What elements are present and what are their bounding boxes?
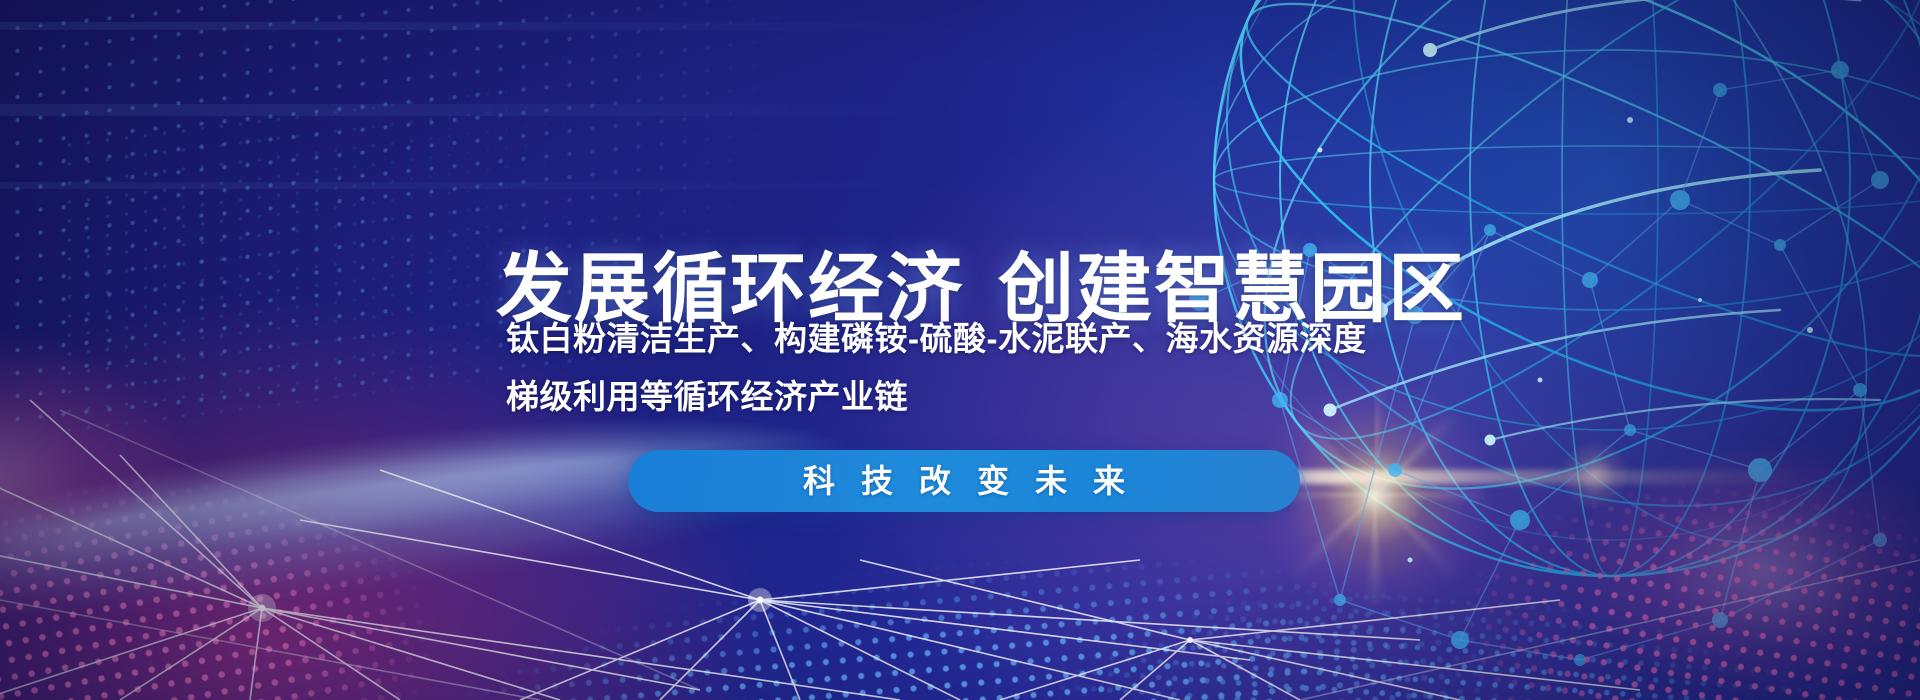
cta-button[interactable]: 科技改变未来 [628,450,1300,512]
page-title: 发展循环经济创建智慧园区 [496,252,1466,328]
banner-content: 发展循环经济创建智慧园区 钛白粉清洁生产、构建磷铵-硫酸-水泥联产、海水资源深度… [0,0,1920,700]
cta-button-label: 科技改变未来 [777,465,1151,497]
hero-banner: 发展循环经济创建智慧园区 钛白粉清洁生产、构建磷铵-硫酸-水泥联产、海水资源深度… [0,0,1920,700]
subtitle-line-1: 钛白粉清洁生产、构建磷铵-硫酸-水泥联产、海水资源深度 [506,322,1366,355]
subtitle-line-2: 梯级利用等循环经济产业链 [506,380,908,413]
